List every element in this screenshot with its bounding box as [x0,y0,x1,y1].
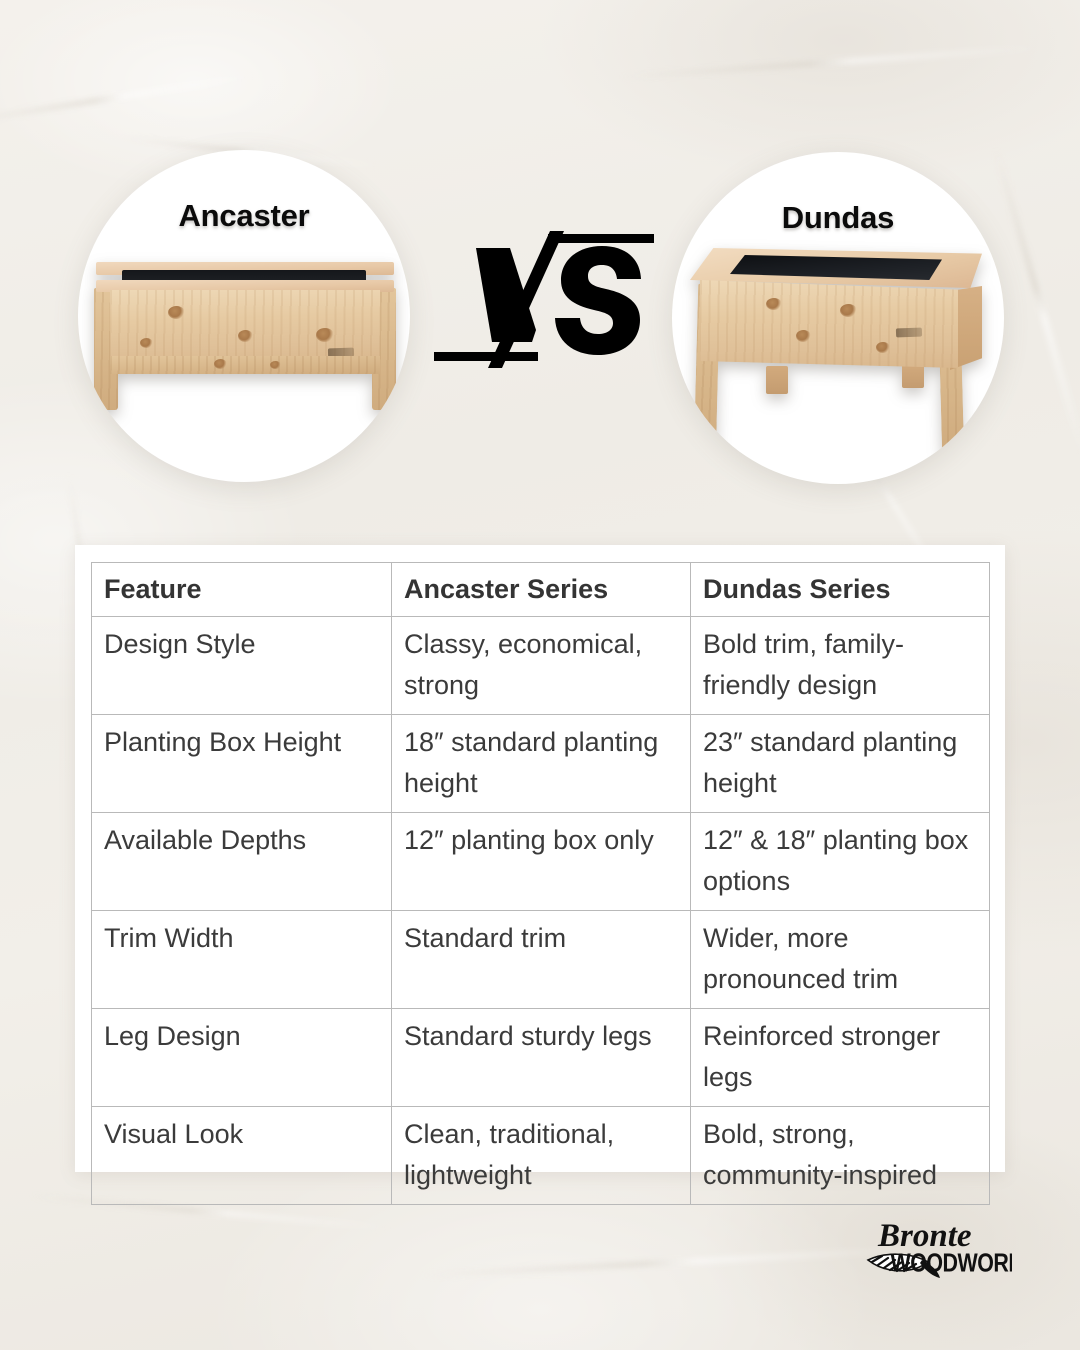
comparison-table-panel: Feature Ancaster Series Dundas Series De… [75,545,1005,1172]
planter-box-tall-icon [688,248,988,458]
planter-body [110,290,380,362]
table-row: Trim Width Standard trim Wider, more pro… [92,911,990,1009]
cell-dundas: Bold, strong, community-inspired [691,1107,990,1205]
product-title-ancaster: Ancaster [78,198,410,234]
wood-knot [168,306,185,319]
cell-feature: Design Style [92,617,392,715]
cell-feature: Available Depths [92,813,392,911]
logo-script-text: Bronte [877,1218,972,1254]
cell-feature: Visual Look [92,1107,392,1205]
cell-ancaster: Standard trim [392,911,691,1009]
planter-leg-back [902,364,924,388]
cell-dundas: Wider, more pronounced trim [691,911,990,1009]
cell-dundas: Reinforced stronger legs [691,1009,990,1107]
brand-logo: Bronte WOODWORK [862,1208,1012,1300]
wood-knot [876,342,890,353]
product-title-dundas: Dundas [672,200,1004,236]
cell-feature: Planting Box Height [92,715,392,813]
product-comparison-hero: Ancaster [0,0,1080,520]
cell-ancaster: Standard sturdy legs [392,1009,691,1107]
table-header-row: Feature Ancaster Series Dundas Series [92,563,990,617]
cell-ancaster: 12″ planting box only [392,813,691,911]
brand-stamp [896,328,922,338]
cell-ancaster: 18″ standard planting height [392,715,691,813]
cell-ancaster: Clean, traditional, lightweight [392,1107,691,1205]
table-row: Available Depths 12″ planting box only 1… [92,813,990,911]
planter-leg-back [766,366,788,394]
table-row: Planting Box Height 18″ standard plantin… [92,715,990,813]
cell-dundas: 12″ & 18″ planting box options [691,813,990,911]
cell-feature: Leg Design [92,1009,392,1107]
wood-knot [214,359,227,369]
comparison-table: Feature Ancaster Series Dundas Series De… [91,562,990,1205]
versus-mark [432,222,656,374]
wood-knot [270,361,281,369]
wood-knot [766,298,782,310]
planter-bottom-rail [110,356,380,374]
table-row: Design Style Classy, economical, strong … [92,617,990,715]
cell-dundas: Bold trim, family-friendly design [691,617,990,715]
table-row: Visual Look Clean, traditional, lightwei… [92,1107,990,1205]
table-row: Leg Design Standard sturdy legs Reinforc… [92,1009,990,1107]
planter-box-low-icon [92,262,398,414]
paper-crease [420,1247,920,1278]
product-card-ancaster: Ancaster [78,150,410,482]
column-header-dundas: Dundas Series [691,563,990,617]
planter-body [700,280,958,368]
wood-knot [840,304,857,317]
cell-feature: Trim Width [92,911,392,1009]
column-header-ancaster: Ancaster Series [392,563,691,617]
wood-knot [140,338,153,348]
cell-dundas: 23″ standard planting height [691,715,990,813]
wood-knot [796,330,811,342]
column-header-feature: Feature [92,563,392,617]
cell-ancaster: Classy, economical, strong [392,617,691,715]
wood-knot [316,328,334,342]
wood-knot [238,330,253,342]
logo-block-text: WOODWORK [891,1250,1012,1278]
product-card-dundas: Dundas [672,152,1004,484]
